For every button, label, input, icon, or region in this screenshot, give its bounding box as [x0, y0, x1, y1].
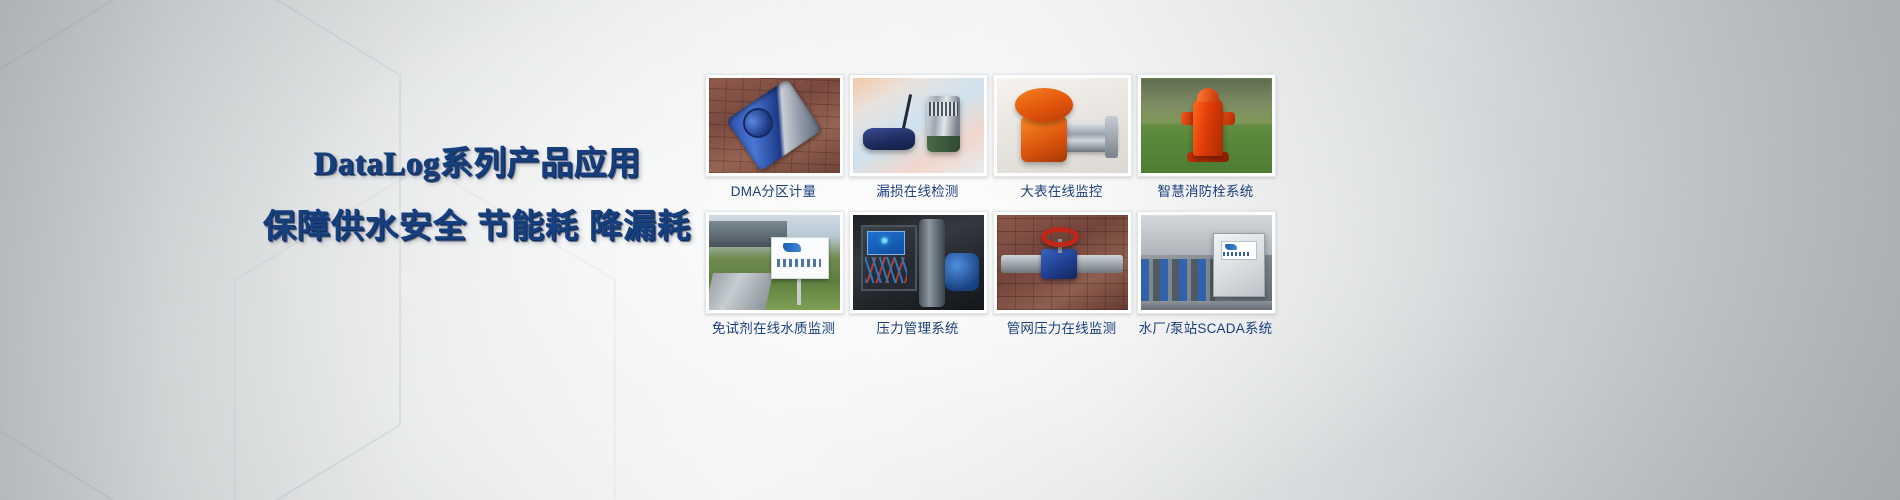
product-thumbnail[interactable]	[849, 211, 988, 314]
product-label: 压力管理系统	[849, 322, 986, 337]
product-card-leak-detection[interactable]: 漏损在线检测	[849, 74, 986, 200]
product-card-pressure-management[interactable]: 压力管理系统	[849, 211, 986, 337]
product-label: 水厂/泵站SCADA系统	[1137, 322, 1274, 337]
product-card-scada[interactable]: 水厂/泵站SCADA系统	[1137, 211, 1274, 337]
product-label: 漏损在线检测	[849, 185, 986, 200]
monitoring-sign-image	[709, 215, 840, 310]
product-thumbnail[interactable]	[1137, 74, 1276, 177]
product-thumbnail[interactable]	[705, 211, 844, 314]
control-cabinet-image	[853, 215, 984, 310]
scada-cabinet-image	[1141, 215, 1272, 310]
headline-line-1: DataLog系列产品应用	[262, 148, 692, 181]
product-label: 智慧消防栓系统	[1137, 185, 1274, 200]
product-label: 管网压力在线监测	[993, 322, 1130, 337]
product-label: DMA分区计量	[705, 185, 842, 200]
fire-hydrant-image	[1141, 78, 1272, 173]
orange-meter-image	[997, 78, 1128, 173]
product-thumbnail[interactable]	[993, 74, 1132, 177]
banner-headline: DataLog系列产品应用 保障供水安全 节能耗 降漏耗	[262, 148, 692, 242]
product-thumbnail[interactable]	[849, 74, 988, 177]
red-wheel-valve-image	[997, 215, 1128, 310]
hexagon-watermark-icon	[0, 0, 430, 500]
product-thumbnail[interactable]	[1137, 211, 1276, 314]
product-card-dma-metering[interactable]: DMA分区计量	[705, 74, 842, 200]
product-label: 免试剂在线水质监测	[705, 322, 842, 337]
product-card-network-pressure[interactable]: 管网压力在线监测	[993, 211, 1130, 337]
leak-logger-image	[853, 78, 984, 173]
product-grid: DMA分区计量 漏损在线检测	[705, 74, 1274, 337]
valve-brick-image	[709, 78, 840, 173]
headline-line-2: 保障供水安全 节能耗 降漏耗	[262, 209, 692, 242]
product-thumbnail[interactable]	[705, 74, 844, 177]
product-card-smart-hydrant[interactable]: 智慧消防栓系统	[1137, 74, 1274, 200]
product-label: 大表在线监控	[993, 185, 1130, 200]
product-thumbnail[interactable]	[993, 211, 1132, 314]
product-card-water-quality[interactable]: 免试剂在线水质监测	[705, 211, 842, 337]
product-card-large-meter[interactable]: 大表在线监控	[993, 74, 1130, 200]
product-banner: DataLog系列产品应用 保障供水安全 节能耗 降漏耗 DMA分区计量	[0, 0, 1900, 500]
